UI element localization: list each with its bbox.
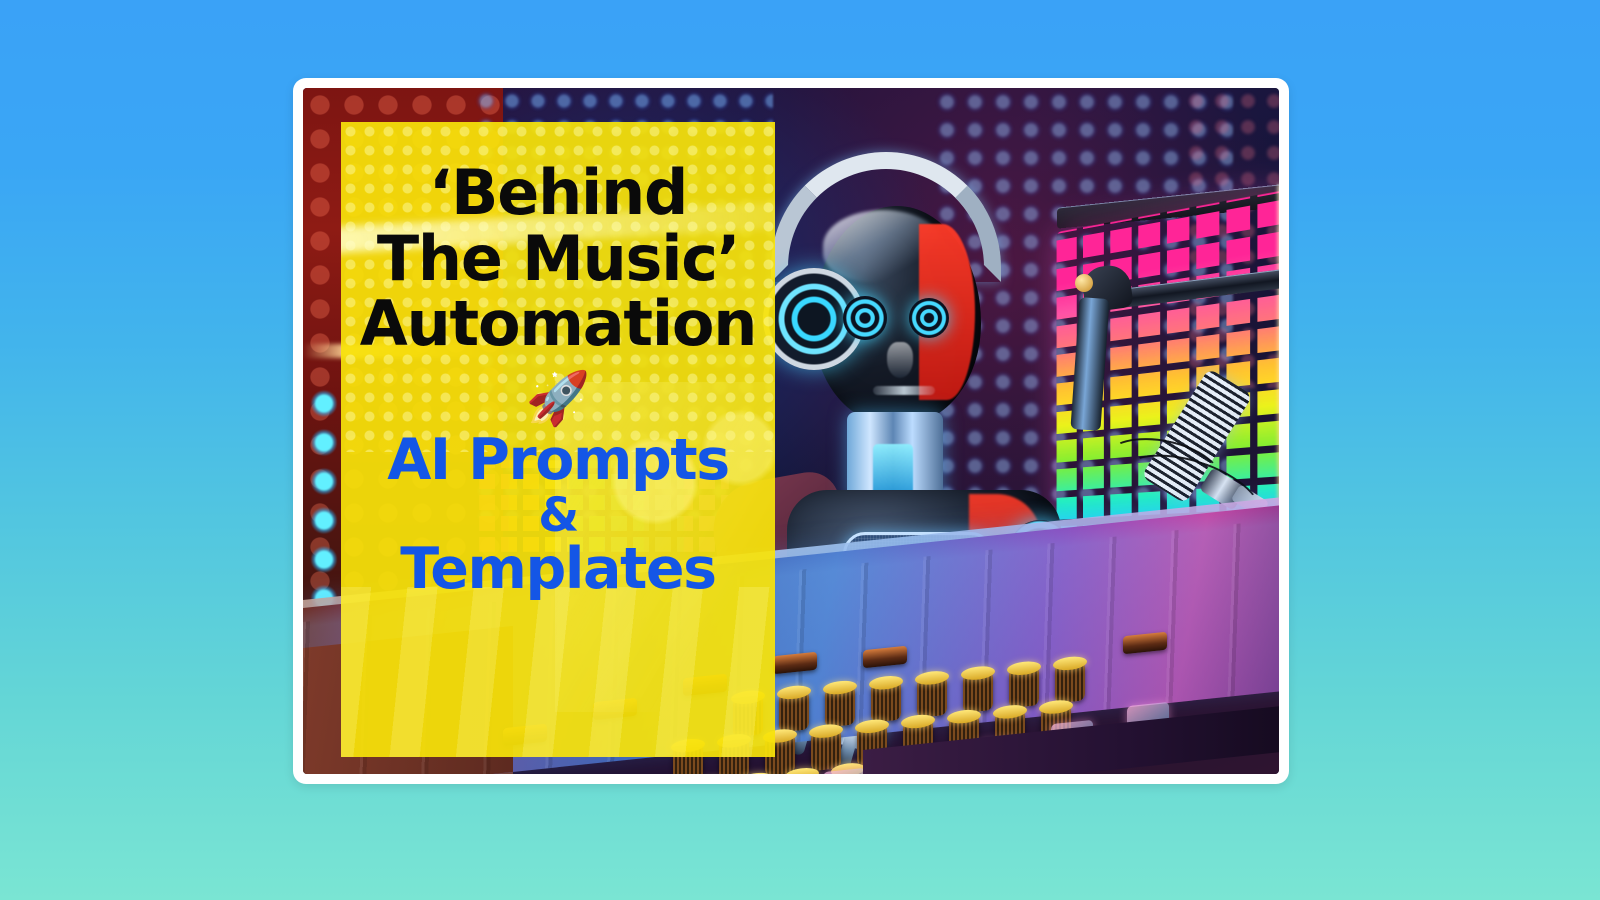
headline: ‘Behind The Music’ Automation — [355, 160, 761, 357]
robot-neck-core-light — [873, 444, 913, 496]
microphone-adjust-knob — [1075, 274, 1093, 292]
yellow-panel-console-ghost — [341, 587, 775, 757]
subheadline: AI Prompts & Templates — [355, 431, 761, 600]
image-card-frame: ‘Behind The Music’ Automation 🚀 AI Promp… — [293, 78, 1289, 784]
mixer-knob[interactable] — [1055, 662, 1085, 703]
mixer-knob[interactable] — [825, 687, 855, 728]
subheadline-line-3: Templates — [355, 540, 761, 600]
mixer-knob[interactable] — [1009, 667, 1039, 708]
subheadline-line-1: AI Prompts — [355, 431, 761, 491]
robot-eye-right — [909, 298, 949, 338]
headline-line-2: The Music’ — [355, 226, 761, 292]
studio-photo: ‘Behind The Music’ Automation 🚀 AI Promp… — [303, 88, 1279, 774]
rocket-icon: 🚀 — [355, 373, 761, 425]
yellow-text-panel: ‘Behind The Music’ Automation 🚀 AI Promp… — [341, 122, 775, 757]
mixer-knob[interactable] — [917, 677, 947, 718]
robot-eye-left — [843, 296, 887, 340]
mixer-knob[interactable] — [779, 691, 809, 732]
headline-line-3: Automation — [355, 291, 761, 357]
panel-content: ‘Behind The Music’ Automation 🚀 AI Promp… — [341, 122, 775, 600]
robot-nose — [887, 342, 913, 378]
subheadline-line-2: & — [355, 491, 761, 540]
mixer-knob[interactable] — [963, 672, 993, 713]
mixer-knob[interactable] — [871, 682, 901, 723]
headline-line-1: ‘Behind — [355, 160, 761, 226]
robot-mouth — [873, 386, 935, 395]
